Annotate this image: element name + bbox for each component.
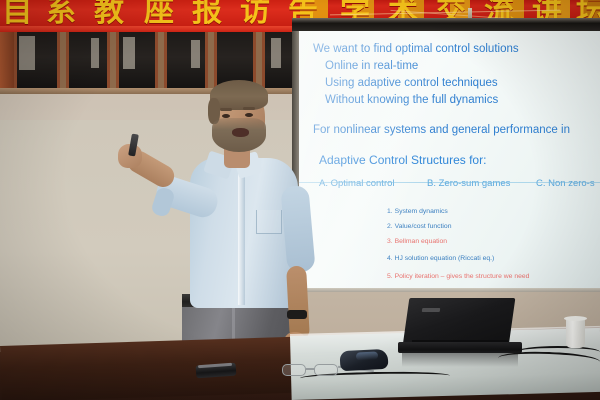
window-reflection — [19, 36, 35, 70]
presenter-eyebrow — [243, 107, 255, 110]
slide-divider — [299, 182, 600, 183]
screen-top-bar — [292, 18, 600, 31]
presenter-right-forearm — [286, 266, 310, 341]
slide-paragraph: For nonlinear systems and general perfor… — [313, 124, 570, 136]
laptop-logo — [422, 308, 441, 312]
paper-cup-rim — [564, 316, 587, 321]
step-text: Bellman equation — [395, 238, 448, 245]
step-number: 4. — [387, 255, 395, 262]
laptop-lid — [403, 298, 516, 346]
banner-character: 自 — [2, 0, 32, 28]
banner-fold — [0, 26, 300, 32]
banner-character: 系 — [46, 0, 76, 28]
laptop[interactable] — [398, 298, 520, 358]
slide-structure-b: B. Zero-sum games — [427, 178, 510, 189]
step-number: 2. — [387, 223, 395, 230]
window-pane — [66, 32, 110, 88]
slide-step: 5. Policy iteration – gives the structur… — [387, 273, 529, 280]
step-text: Value/cost function — [395, 223, 452, 230]
window-pane — [14, 32, 60, 88]
paper-cup[interactable] — [566, 318, 585, 348]
presenter-eye — [245, 113, 253, 117]
window-mullion — [0, 30, 14, 92]
shirt-sleeve-cuff — [150, 186, 176, 218]
step-text: HJ solution equation (Riccati eq.) — [395, 255, 495, 262]
slide-step: 4. HJ solution equation (Riccati eq.) — [387, 255, 494, 262]
slide-bullet: Using adaptive control techniques — [325, 77, 498, 89]
slide-structure-c: C. Non zero-s — [536, 178, 595, 189]
shirt-pocket — [256, 210, 282, 234]
banner-character: 报 — [192, 0, 222, 28]
wristwatch — [287, 310, 307, 319]
window-reflection — [191, 40, 200, 68]
presenter-eyebrow — [220, 108, 232, 111]
step-number: 1. — [387, 208, 395, 215]
step-number: 3. — [387, 238, 395, 245]
slide-step: 1. System dynamics — [387, 208, 448, 215]
eyeglasses[interactable] — [282, 362, 346, 378]
window-reflection — [91, 38, 99, 68]
banner-character: 教 — [94, 0, 124, 28]
laptop-base — [398, 342, 522, 353]
projection-screen: We want to find optimal control solution… — [299, 31, 600, 289]
step-text: Policy iteration – gives the structure w… — [395, 273, 530, 280]
presenter-mouth — [232, 128, 249, 137]
window-reflection — [123, 37, 135, 69]
eyeglass-lens — [314, 364, 338, 376]
banner-character: 访 — [240, 0, 270, 28]
step-number: 5. — [387, 273, 395, 280]
lecture-photo: 自 系 教 座 报 访 告 学 术 交 流 讲 坛 We want to fin… — [0, 0, 600, 400]
slide-bullet: Without knowing the full dynamics — [325, 94, 498, 106]
banner-character: 座 — [144, 0, 174, 28]
presentation-slide: We want to find optimal control solution… — [299, 31, 600, 289]
slide-step: 3. Bellman equation — [387, 238, 447, 245]
slide-step: 2. Value/cost function — [387, 223, 452, 230]
slide-bullet: We want to find optimal control solution… — [313, 43, 519, 55]
slide-section-heading: Adaptive Control Structures for: — [319, 153, 486, 167]
window-reflection — [271, 38, 281, 68]
shirt-placket — [238, 170, 245, 305]
step-text: System dynamics — [395, 208, 448, 215]
mouse-pouch-highlight — [356, 351, 378, 360]
eyeglass-lens — [282, 364, 306, 376]
